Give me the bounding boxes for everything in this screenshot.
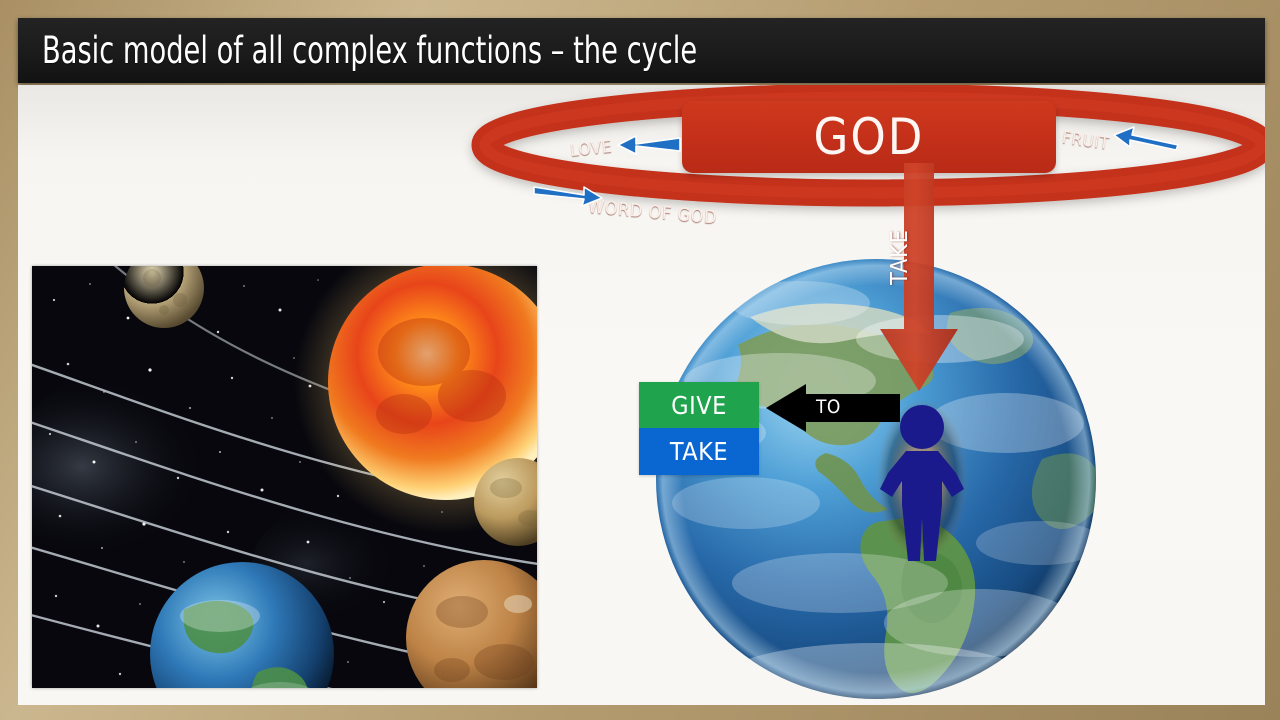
ring-label-fruit: FRUIT [1061,128,1111,154]
give-label: GIVE [671,391,727,420]
page-title: Basic model of all complex functions – t… [42,29,697,72]
take-arrow-label: TAKE [840,239,960,275]
take-down-arrow [876,163,962,407]
ring-label-word-of-god: WORD OF GOD [587,196,718,228]
take-label: TAKE [670,437,728,466]
space-illustration [32,266,537,688]
give-box[interactable]: GIVE [639,382,759,428]
give-take-box: GIVE TAKE [639,382,759,475]
space-solar-system-image [32,266,537,688]
to-arrow-label: TO [816,396,841,418]
god-label: GOD [814,108,925,166]
take-box[interactable]: TAKE [639,428,759,475]
slide-title-bar: Basic model of all complex functions – t… [18,18,1265,83]
slide-root: Basic model of all complex functions – t… [0,0,1280,720]
arrow-left-icon-love [614,132,684,158]
slide-canvas: GOD LOVE WORD OF GOD FRUIT [18,85,1265,705]
god-banner[interactable]: GOD [682,101,1056,173]
ring-label-love: LOVE [569,137,613,161]
arrow-right-icon-word-of-god [530,181,606,209]
arrow-left-icon-fruit [1110,123,1182,151]
